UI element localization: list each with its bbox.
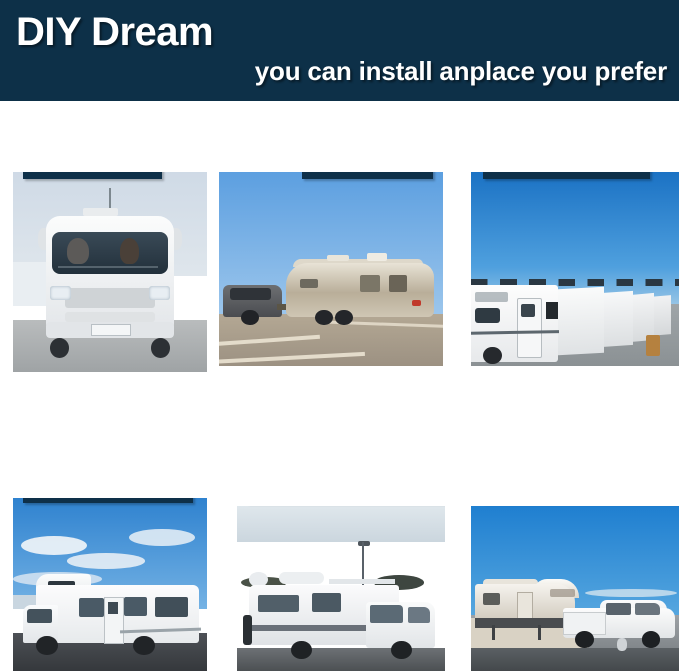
entry-door-window	[108, 602, 118, 614]
side-window-2	[312, 593, 341, 611]
trailer-window-3	[389, 275, 407, 292]
fifth-wheel-window	[483, 593, 500, 605]
license-plate	[91, 324, 132, 336]
side-window-3	[155, 597, 188, 618]
tile-label-for-rear: For Rear	[302, 172, 433, 179]
light-pole-head	[358, 541, 370, 546]
headlight-right	[149, 286, 170, 300]
windshield	[408, 607, 431, 624]
tile-label-for-parking: For Parking	[483, 172, 650, 179]
cab-window	[370, 605, 403, 623]
side-window-1	[258, 595, 300, 612]
trailer-ac-unit-2	[367, 253, 387, 261]
road	[471, 648, 679, 671]
trailer-window-1	[300, 279, 318, 289]
feature-tile-for-parking: For Parking	[471, 172, 679, 366]
trailer-tail-light	[412, 300, 421, 306]
trailer-window-2	[360, 275, 380, 292]
truck-windshield	[635, 603, 660, 615]
wheel-left	[50, 338, 69, 358]
feature-tile-left-and-right: Left & Right	[13, 498, 207, 671]
roof-storage-box	[279, 572, 325, 584]
page-subtitle: you can install anplace you prefer	[255, 58, 667, 84]
roof-rack	[329, 579, 396, 584]
folding-chair	[646, 335, 661, 356]
truck-wheel-rear	[575, 631, 594, 648]
photo-for-parking	[471, 172, 679, 366]
wheel-right	[151, 338, 170, 358]
road	[237, 648, 445, 671]
person-silhouette	[243, 615, 251, 645]
trailer-1-window	[475, 308, 500, 324]
cloud-2	[67, 553, 145, 569]
stabilizer-jack-front	[492, 625, 495, 640]
roof-ac-unit	[83, 208, 118, 216]
tile-label-for-front: For Front	[23, 172, 162, 179]
photo-for-front	[13, 172, 207, 372]
photo-for-rear	[219, 172, 443, 366]
photo-for-turn-signal	[237, 506, 445, 671]
cloud-1	[21, 536, 87, 555]
trailer-ac-unit-1	[327, 255, 349, 261]
trailer-1-wheel	[483, 347, 502, 364]
feature-tile-for-rear: For Rear	[219, 172, 443, 366]
trailer-2	[558, 287, 604, 355]
trailer-3	[600, 291, 633, 348]
wheel-rear	[133, 636, 154, 655]
headlight-left	[50, 286, 71, 300]
trailer-1-side-panel	[546, 302, 558, 319]
driver-silhouette	[120, 238, 139, 264]
grille-upper	[65, 288, 154, 308]
side-window-1	[79, 598, 104, 617]
grille-lower	[65, 312, 154, 322]
trailer-1-door-window	[521, 304, 536, 318]
cab-window	[27, 609, 52, 623]
page-title: DIY Dream	[16, 12, 213, 52]
suv-window	[230, 288, 270, 300]
cloud	[585, 589, 677, 597]
passenger-silhouette	[67, 238, 88, 264]
photo-hitch-and-trailer	[471, 506, 679, 671]
feature-tile-for-turn-signal: For Turn Signal	[237, 506, 445, 671]
photo-left-and-right	[13, 498, 207, 671]
truck-wheel-front	[642, 631, 661, 648]
truck-rear-window	[606, 603, 631, 615]
dog	[617, 638, 627, 651]
feature-tile-for-front: For Front	[13, 172, 207, 372]
header-banner: DIY Dream you can install anplace you pr…	[0, 0, 679, 101]
fifth-wheel-skirt	[475, 618, 575, 628]
stabilizer-jack-rear	[538, 625, 541, 640]
side-window-2	[124, 597, 147, 616]
tile-label-left-and-right: Left & Right	[23, 498, 193, 503]
wheel-front	[36, 636, 57, 655]
feature-tile-hitch-and-trailer: Hitch & Trailer	[471, 506, 679, 671]
wipers	[58, 266, 159, 268]
trailer-1-logo	[475, 292, 508, 302]
sky	[237, 506, 445, 542]
fifth-wheel-logo	[550, 589, 575, 597]
